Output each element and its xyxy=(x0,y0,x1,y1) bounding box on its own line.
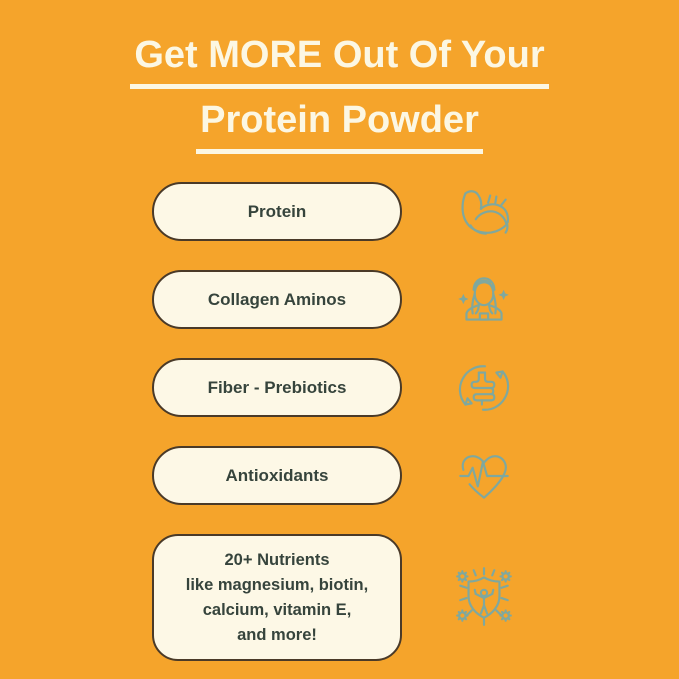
benefit-label-line-2: like magnesium, biotin, xyxy=(154,573,400,598)
woman-face-sparkle-icon xyxy=(448,266,520,334)
flexed-bicep-icon xyxy=(448,178,520,246)
protein-powder-infographic: Get MORE Out Of Your Protein Powder Prot… xyxy=(0,0,679,679)
heart-pulse-icon xyxy=(448,442,520,510)
benefit-label: Fiber - Prebiotics xyxy=(208,377,347,399)
list-item: Fiber - Prebiotics xyxy=(0,358,679,446)
benefit-pill-collagen-aminos[interactable]: Collagen Aminos xyxy=(152,270,402,329)
shield-person-immunity-icon xyxy=(448,562,520,630)
list-item: Antioxidants xyxy=(0,446,679,534)
list-item: 20+ Nutrients like magnesium, biotin, ca… xyxy=(0,534,679,662)
list-item: Collagen Aminos xyxy=(0,270,679,358)
benefit-pill-fiber-prebiotics[interactable]: Fiber - Prebiotics xyxy=(152,358,402,417)
benefit-label-line-4: and more! xyxy=(154,623,400,648)
benefit-label-line-3: calcium, vitamin E, xyxy=(154,598,400,623)
headline-line-1-wrap: Get MORE Out Of Your xyxy=(0,28,679,89)
list-item: Protein xyxy=(0,182,679,270)
benefit-list: Protein Collagen Aminos xyxy=(0,182,679,662)
benefit-box-nutrients[interactable]: 20+ Nutrients like magnesium, biotin, ca… xyxy=(152,534,402,661)
benefit-pill-antioxidants[interactable]: Antioxidants xyxy=(152,446,402,505)
benefit-label: Collagen Aminos xyxy=(208,289,346,311)
page-title: Get MORE Out Of Your Protein Powder xyxy=(0,28,679,154)
headline-line-2: Protein Powder xyxy=(196,93,483,154)
benefit-label-line-1: 20+ Nutrients xyxy=(154,548,400,573)
benefit-pill-protein[interactable]: Protein xyxy=(152,182,402,241)
benefit-label: Antioxidants xyxy=(226,465,329,487)
gut-refresh-icon xyxy=(448,354,520,422)
headline-line-2-wrap: Protein Powder xyxy=(0,93,679,154)
headline-line-1: Get MORE Out Of Your xyxy=(130,28,548,89)
benefit-label: Protein xyxy=(248,201,307,223)
